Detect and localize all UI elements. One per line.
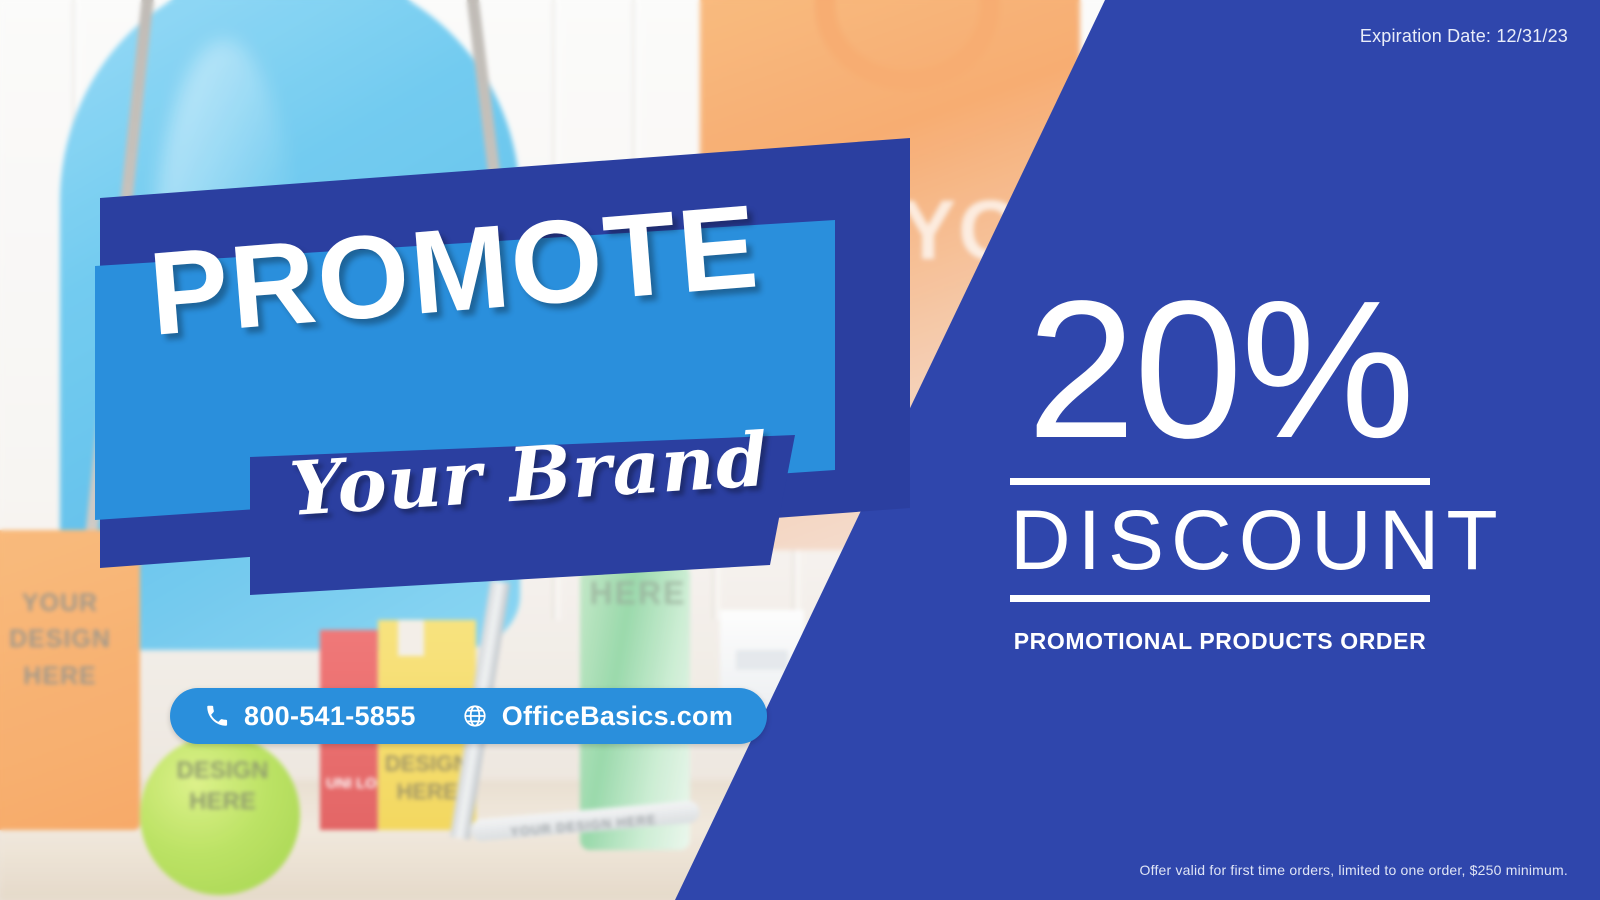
expiration-date: Expiration Date: 12/31/23 <box>1360 26 1568 47</box>
promotional-banner: YO D YOUR DESIGN HERE UNI LO DESIGN HERE… <box>0 0 1600 900</box>
offer-subtitle: PROMOTIONAL PRODUCTS ORDER <box>1010 628 1430 655</box>
phone-icon <box>204 703 230 729</box>
discount-percent: 20% <box>1010 280 1430 460</box>
discount-rule-top <box>1010 478 1430 485</box>
contact-phone-number[interactable]: 800-541-5855 <box>244 701 416 732</box>
discount-word: DISCOUNT <box>1010 497 1430 584</box>
offer-block: 20% DISCOUNT PROMOTIONAL PRODUCTS ORDER <box>1010 280 1430 655</box>
contact-website[interactable]: OfficeBasics.com <box>502 701 733 732</box>
discount-rule-bottom <box>1010 595 1430 602</box>
globe-icon <box>462 703 488 729</box>
contact-pill[interactable]: 800-541-5855 OfficeBasics.com <box>170 688 767 744</box>
offer-disclaimer: Offer valid for first time orders, limit… <box>1140 862 1568 878</box>
